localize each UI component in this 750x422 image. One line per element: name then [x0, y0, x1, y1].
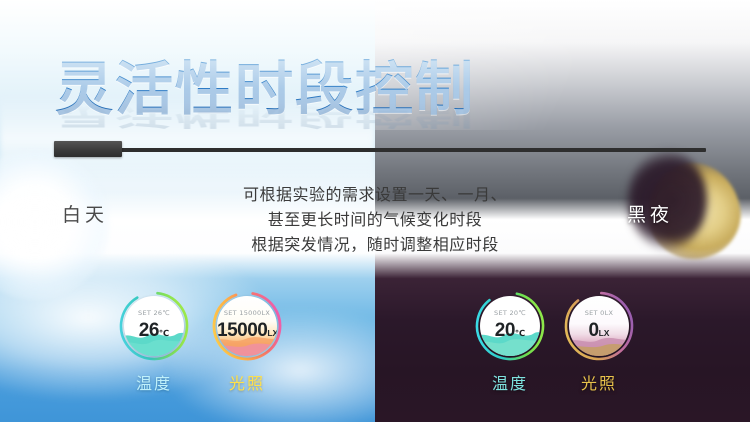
gauge-caption-night-temperature: 温度 [465, 370, 555, 394]
gauge-value: 15000LX [217, 320, 277, 342]
title-block: 灵活性时段控制 灵活性时段控制 灵活性时段控制 [0, 42, 750, 152]
gauge-dial: SET 20℃ 20℃ [480, 296, 540, 356]
description-line-1: 可根据实验的需求设置一天、一月、 [150, 183, 600, 208]
gauge-value-unit: LX [599, 328, 610, 338]
page-title-reflection: 灵活性时段控制 [55, 94, 475, 138]
gauge-set-label: SET 15000LX [217, 309, 277, 317]
timeline-slider-track[interactable] [54, 148, 706, 152]
gauge-dial: SET 26℃ 26℃ [124, 296, 184, 356]
gauge-value-number: 15000 [217, 320, 267, 341]
slide-canvas: 灵活性时段控制 灵活性时段控制 灵活性时段控制 白天 黑夜 可根据实验的需求设置… [0, 0, 750, 422]
gauge-dial: SET 0LX 0LX [569, 296, 629, 356]
gauge-value-number: 26 [139, 320, 159, 341]
gauge-caption-night-illuminance: 光照 [554, 370, 644, 394]
gauge-set-label: SET 0LX [569, 309, 629, 317]
gauge-value: 26℃ [124, 320, 184, 342]
gauge-value-unit: LX [267, 328, 277, 338]
gauge-day-illuminance[interactable]: SET 15000LX 15000LX [211, 290, 283, 362]
gauge-value: 0LX [569, 320, 629, 342]
description-block: 可根据实验的需求设置一天、一月、 甚至更长时间的气候变化时段 根据突发情况，随时… [150, 183, 600, 258]
gauge-value-number: 20 [495, 320, 515, 341]
gauge-set-label: SET 20℃ [480, 309, 540, 317]
gauge-caption-day-temperature: 温度 [109, 370, 199, 394]
night-label: 黑夜 [627, 200, 673, 227]
gauge-night-illuminance[interactable]: SET 0LX 0LX [563, 290, 635, 362]
gauge-caption-day-illuminance: 光照 [202, 370, 292, 394]
gauge-dial: SET 15000LX 15000LX [217, 296, 277, 356]
gauge-night-temperature[interactable]: SET 20℃ 20℃ [474, 290, 546, 362]
gauge-set-label: SET 26℃ [124, 309, 184, 317]
description-line-3: 根据突发情况，随时调整相应时段 [150, 233, 600, 258]
gauge-value-number: 0 [589, 320, 599, 341]
timeline-slider-handle[interactable] [54, 141, 122, 157]
gauge-day-temperature[interactable]: SET 26℃ 26℃ [118, 290, 190, 362]
gauge-value: 20℃ [480, 320, 540, 342]
description-line-2: 甚至更长时间的气候变化时段 [150, 208, 600, 233]
gauge-value-unit: ℃ [159, 328, 169, 338]
day-label: 白天 [62, 200, 108, 227]
gauge-value-unit: ℃ [515, 328, 525, 338]
